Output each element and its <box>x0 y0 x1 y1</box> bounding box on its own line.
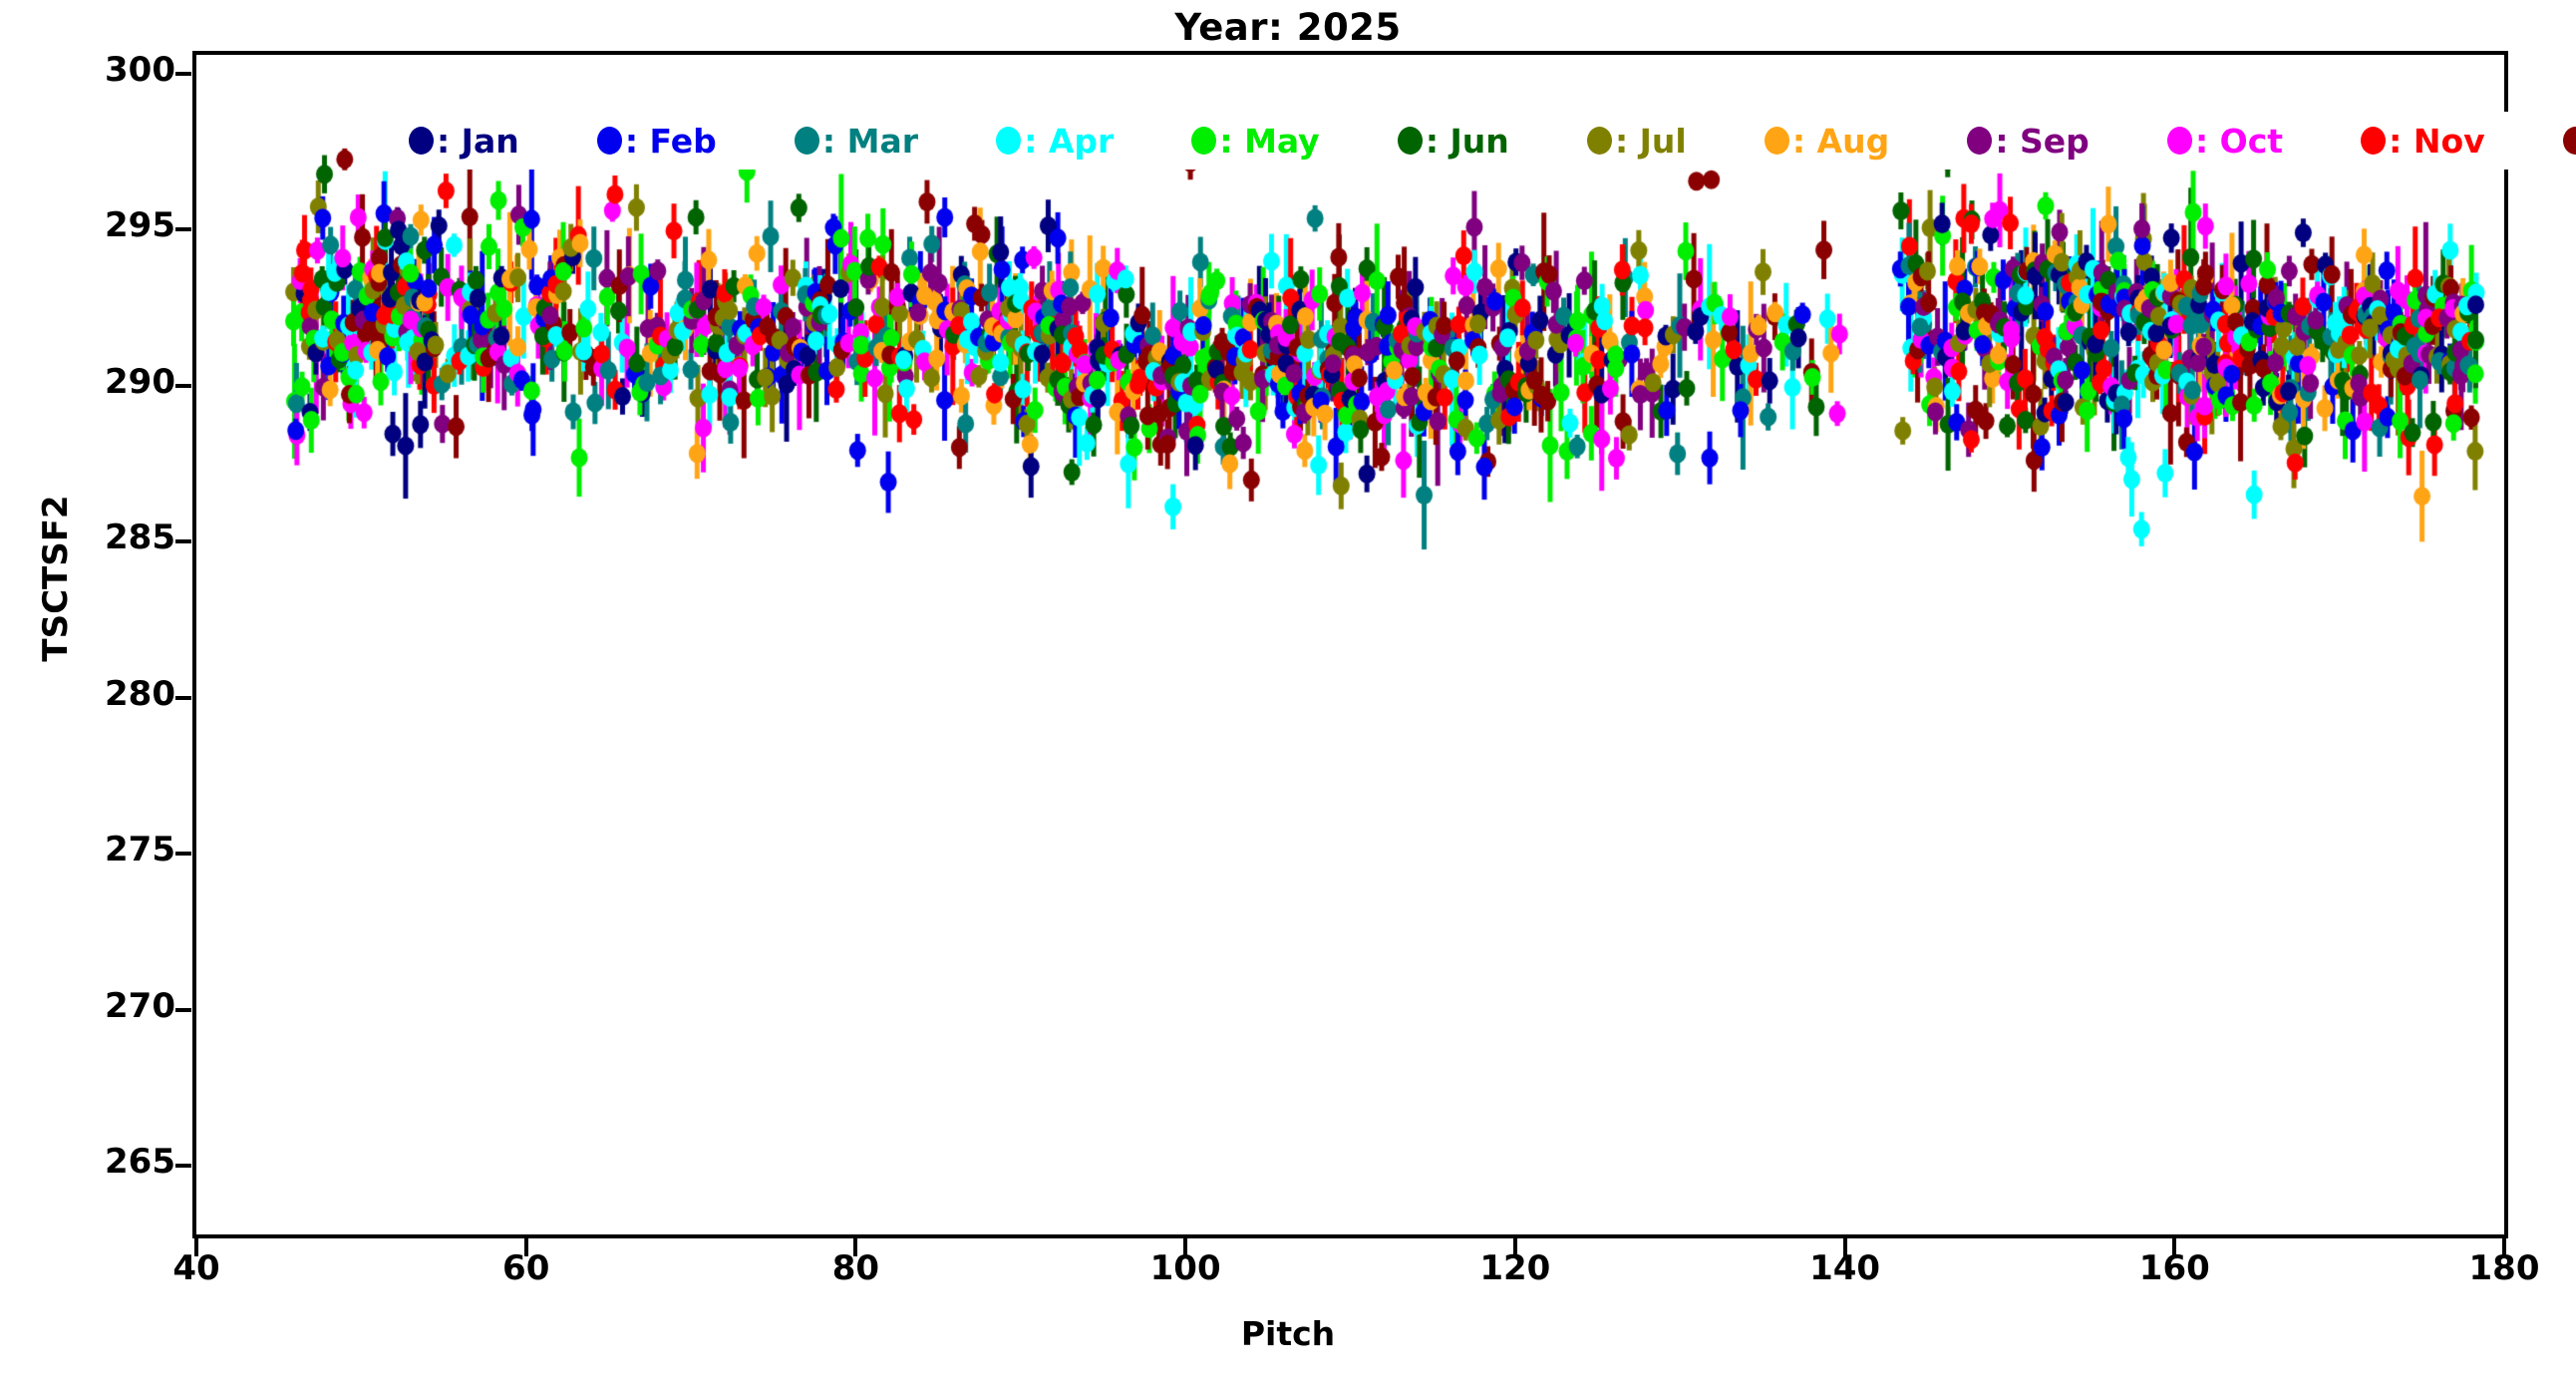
y-tick-label: 300 <box>0 50 175 90</box>
x-tick-mark <box>524 1238 528 1256</box>
legend-item-dec[interactable]: : Dec <box>2563 125 2576 158</box>
page-title: Year: 2025 <box>0 6 2576 49</box>
legend-item-feb[interactable]: : Feb <box>597 125 717 158</box>
legend-item-label: : May <box>1219 125 1319 158</box>
legend-marker-dot-icon <box>2167 127 2192 155</box>
y-tick-mark <box>175 539 191 543</box>
plot-area: : Jan: Feb: Mar: Apr: May: Jun: Jul: Aug… <box>192 51 2508 1238</box>
x-tick-mark <box>2172 1238 2176 1256</box>
y-tick-label: 265 <box>0 1142 175 1182</box>
chart-page: Year: 2025 TSCTSF2 Pitch 265270275280285… <box>0 0 2576 1387</box>
legend-marker-dot-icon <box>795 127 819 155</box>
y-tick-label: 285 <box>0 518 175 557</box>
legend-item-mar[interactable]: : Mar <box>795 125 918 158</box>
x-axis-label: Pitch <box>0 1314 2576 1353</box>
legend-item-sep[interactable]: : Sep <box>1967 125 2089 158</box>
legend-item-nov[interactable]: : Nov <box>2361 125 2485 158</box>
legend-item-jul[interactable]: : Jul <box>1587 125 1687 158</box>
y-tick-mark <box>175 1164 191 1168</box>
x-tick-mark <box>1183 1238 1187 1256</box>
y-tick-mark <box>175 1008 191 1012</box>
legend-item-label: : Apr <box>1024 125 1114 158</box>
x-tick-mark <box>194 1238 198 1256</box>
legend-marker-dot-icon <box>2563 127 2576 155</box>
legend-item-may[interactable]: : May <box>1191 125 1319 158</box>
legend-item-aug[interactable]: : Aug <box>1765 125 1889 158</box>
x-tick-mark <box>1843 1238 1847 1256</box>
legend-item-label: : Mar <box>822 125 918 158</box>
y-tick-label: 270 <box>0 986 175 1026</box>
scatter-plot-canvas <box>196 55 2504 1234</box>
y-tick-mark <box>175 384 191 388</box>
legend-item-apr[interactable]: : Apr <box>996 125 1114 158</box>
legend-item-label: : Oct <box>2195 125 2283 158</box>
legend-item-label: : Jun <box>1426 125 1509 158</box>
legend-marker-dot-icon <box>2361 127 2386 155</box>
x-tick-mark <box>1513 1238 1517 1256</box>
y-tick-mark <box>175 696 191 700</box>
legend-marker-dot-icon <box>1967 127 1992 155</box>
legend-item-oct[interactable]: : Oct <box>2167 125 2283 158</box>
legend-item-jun[interactable]: : Jun <box>1398 125 1509 158</box>
legend-item-label: : Nov <box>2389 125 2485 158</box>
y-tick-label: 295 <box>0 205 175 245</box>
x-tick-label: 180 <box>2424 1248 2576 1288</box>
legend-item-label: : Aug <box>1792 125 1889 158</box>
legend-item-label: : Sep <box>1995 125 2089 158</box>
legend-item-label: : Jul <box>1615 125 1687 158</box>
x-tick-mark <box>2502 1238 2506 1256</box>
y-tick-mark <box>175 72 191 76</box>
y-tick-label: 280 <box>0 674 175 714</box>
legend-marker-dot-icon <box>996 127 1021 155</box>
legend-marker-dot-icon <box>1587 127 1612 155</box>
legend-marker-dot-icon <box>1765 127 1789 155</box>
legend-marker-dot-icon <box>409 127 434 155</box>
legend: : Jan: Feb: Mar: Apr: May: Jun: Jul: Aug… <box>395 112 2576 170</box>
y-tick-label: 275 <box>0 830 175 869</box>
y-tick-mark <box>175 852 191 856</box>
legend-marker-dot-icon <box>1191 127 1216 155</box>
legend-item-label: : Feb <box>625 125 717 158</box>
y-tick-label: 290 <box>0 362 175 402</box>
x-tick-mark <box>853 1238 857 1256</box>
legend-item-jan[interactable]: : Jan <box>409 125 519 158</box>
legend-marker-dot-icon <box>597 127 622 155</box>
legend-marker-dot-icon <box>1398 127 1423 155</box>
legend-item-label: : Jan <box>437 125 519 158</box>
y-tick-mark <box>175 227 191 231</box>
